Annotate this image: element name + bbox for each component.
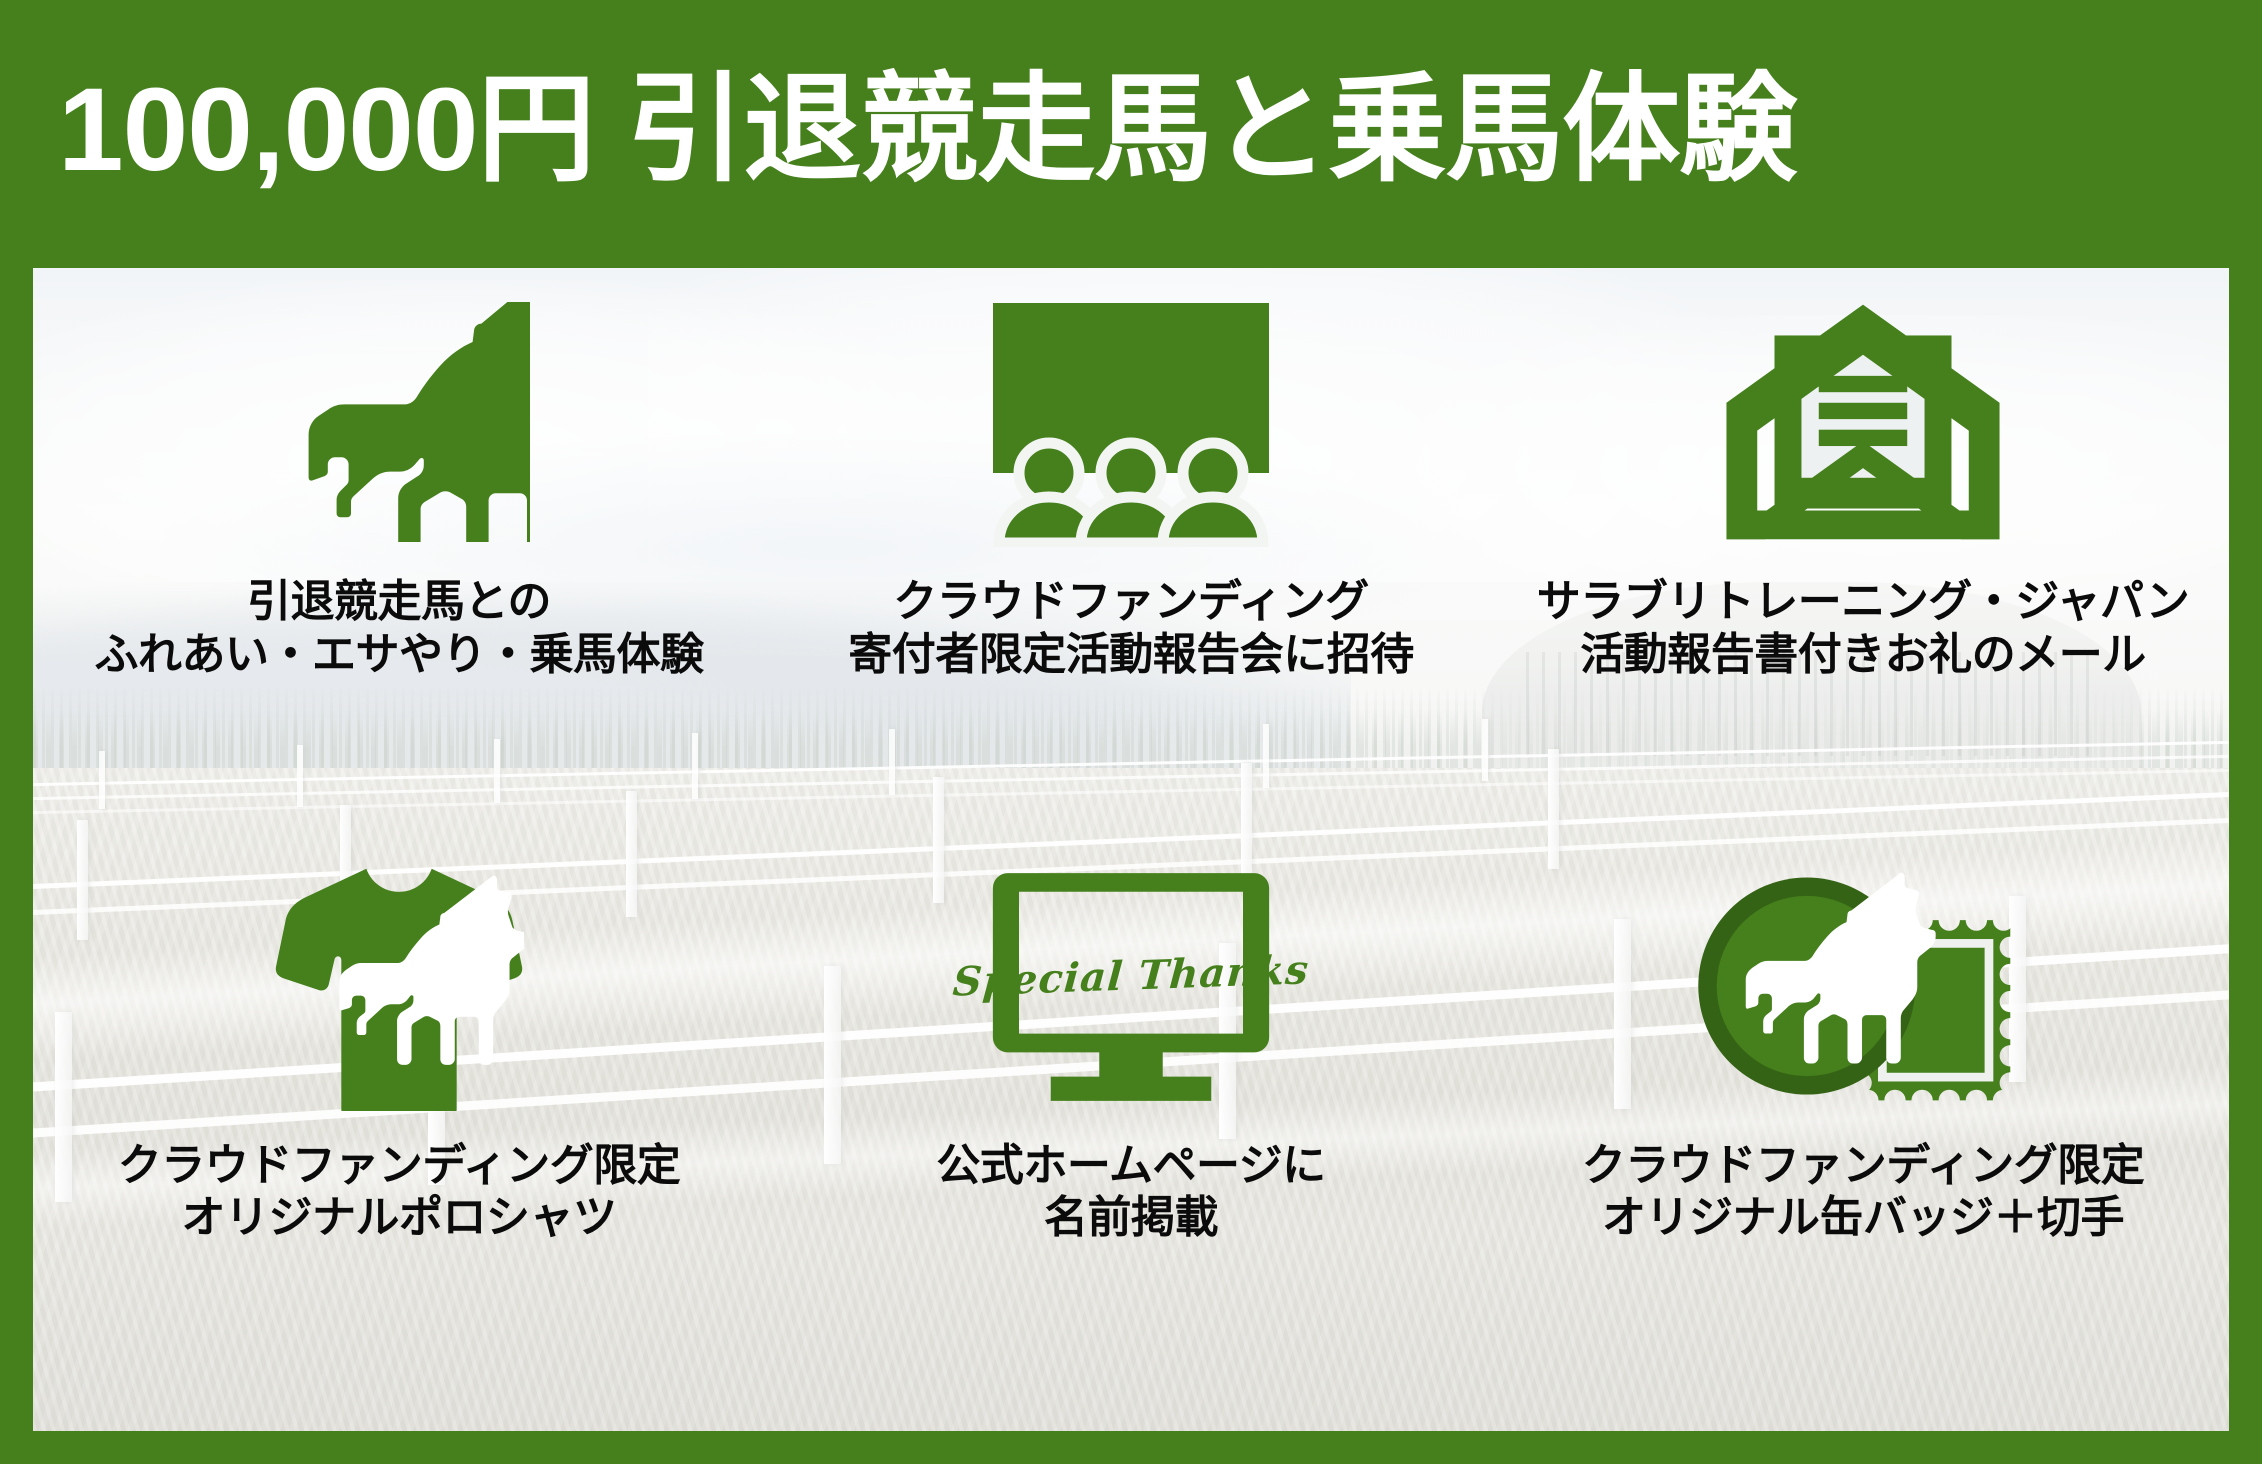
page-title: 100,000円 引退競走馬と乗馬体験 [58,71,1796,189]
reward-label-line1: クラウドファンディング限定 [118,1141,680,1190]
reward-label: クラウドファンディング限定 オリジナル缶バッジ＋切手 [1582,1140,2144,1246]
reward-label: クラウドファンディング限定 オリジナルポロシャツ [118,1140,680,1246]
reward-item-thank-you-mail: サラブリトレーニング・ジャパン 活動報告書付きお礼のメール [1497,268,2229,850]
reward-label-line1: 公式ホームページに [936,1141,1325,1190]
reward-label-line1: クラウドファンディング限定 [1582,1141,2144,1190]
reward-label-line2: オリジナル缶バッジ＋切手 [1582,1192,2144,1245]
background-photo-paddock: 引退競走馬との ふれあい・エサやり・乗馬体験 [33,268,2229,1431]
reward-grid: 引退競走馬との ふれあい・エサやり・乗馬体験 [33,268,2229,1431]
reward-item-horse-experience: 引退競走馬との ふれあい・エサやり・乗馬体験 [33,268,765,850]
reward-label: 公式ホームページに 名前掲載 [936,1140,1325,1246]
reward-label-line2: オリジナルポロシャツ [118,1192,680,1245]
reward-item-report-meeting: クラウドファンディング 寄付者限定活動報告会に招待 [765,268,1497,850]
reward-item-polo-shirt: クラウドファンディング限定 オリジナルポロシャツ [33,850,765,1432]
reward-item-badge-stamp: クラウドファンディング限定 オリジナル缶バッジ＋切手 [1497,850,2229,1432]
horse-icon [268,286,530,558]
title-bar: 100,000円 引退競走馬と乗馬体験 [0,0,2262,268]
presentation-audience-icon [981,286,1281,558]
reward-label-line2: 寄付者限定活動報告会に招待 [848,629,1414,682]
reward-label: クラウドファンディング 寄付者限定活動報告会に招待 [848,576,1414,682]
tshirt-horse-icon [274,856,524,1118]
monitor-special-thanks-icon: Special Thanks [991,856,1271,1118]
reward-label: サラブリトレーニング・ジャパン 活動報告書付きお礼のメール [1537,576,2190,682]
reward-label-line2: 名前掲載 [936,1192,1325,1245]
can-badge-stamp-icon [1698,856,2028,1118]
reward-item-website-credit: Special Thanks 公式ホームページに 名前掲載 [765,850,1497,1432]
reward-label: 引退競走馬との ふれあい・エサやり・乗馬体験 [95,576,704,682]
reward-label-line1: クラウドファンディング [893,577,1368,626]
reward-label-line2: ふれあい・エサやり・乗馬体験 [95,629,704,682]
reward-label-line2: 活動報告書付きお礼のメール [1537,629,2190,682]
reward-label-line1: サラブリトレーニング・ジャパン [1537,577,2190,626]
reward-card: 100,000円 引退競走馬と乗馬体験 [0,0,2262,1464]
reward-label-line1: 引退競走馬との [247,577,551,626]
open-envelope-letter-icon [1718,286,2008,558]
